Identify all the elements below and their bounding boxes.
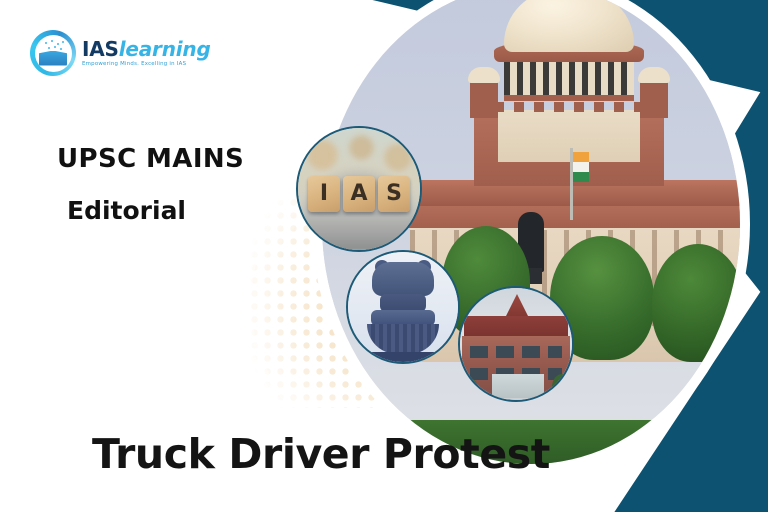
blocks-surface <box>298 216 420 250</box>
shrub <box>552 374 572 400</box>
tower-merlons <box>474 102 664 112</box>
capital-base <box>364 352 442 362</box>
letter-block: A <box>343 176 375 212</box>
brand-name-learning: learning <box>119 37 211 61</box>
letter-block: S <box>378 176 410 212</box>
poster-canvas: I A S <box>0 0 768 512</box>
window <box>548 346 562 358</box>
lion-heads <box>372 262 434 296</box>
kicker-line-2: Editorial <box>67 196 244 225</box>
brand-wordmark: IASlearning Empowering Minds. Excelling … <box>82 39 211 67</box>
dome <box>504 0 634 52</box>
brand-logo[interactable]: IASlearning Empowering Minds. Excelling … <box>30 30 211 76</box>
tree <box>652 244 740 362</box>
government-building-photo <box>458 286 574 402</box>
indian-flag-icon <box>570 148 573 220</box>
turret-right <box>640 80 668 118</box>
kicker-block: UPSC MAINS Editorial <box>57 144 244 225</box>
dome-drum <box>504 56 634 101</box>
window <box>470 346 488 358</box>
kicker-line-1: UPSC MAINS <box>57 144 244 174</box>
central-tower-panel <box>498 110 640 162</box>
building-entrance <box>492 374 544 398</box>
window <box>522 346 540 358</box>
turret-left <box>470 80 498 118</box>
ashoka-lion-capital-photo <box>346 250 460 364</box>
logo-badge-inner <box>35 35 72 72</box>
building-roof <box>464 316 568 338</box>
open-book-sparkles-icon <box>30 30 76 76</box>
shrub <box>460 378 478 400</box>
letter-block: I <box>308 176 340 212</box>
open-book-icon <box>39 51 67 66</box>
brand-name: IASlearning <box>82 39 211 59</box>
ias-wooden-blocks-photo: I A S <box>296 126 422 252</box>
window <box>496 346 514 358</box>
brand-name-ias: IAS <box>82 37 119 61</box>
brand-tagline: Empowering Minds. Excelling in IAS <box>82 62 211 67</box>
page-title: Truck Driver Protest <box>0 430 768 478</box>
